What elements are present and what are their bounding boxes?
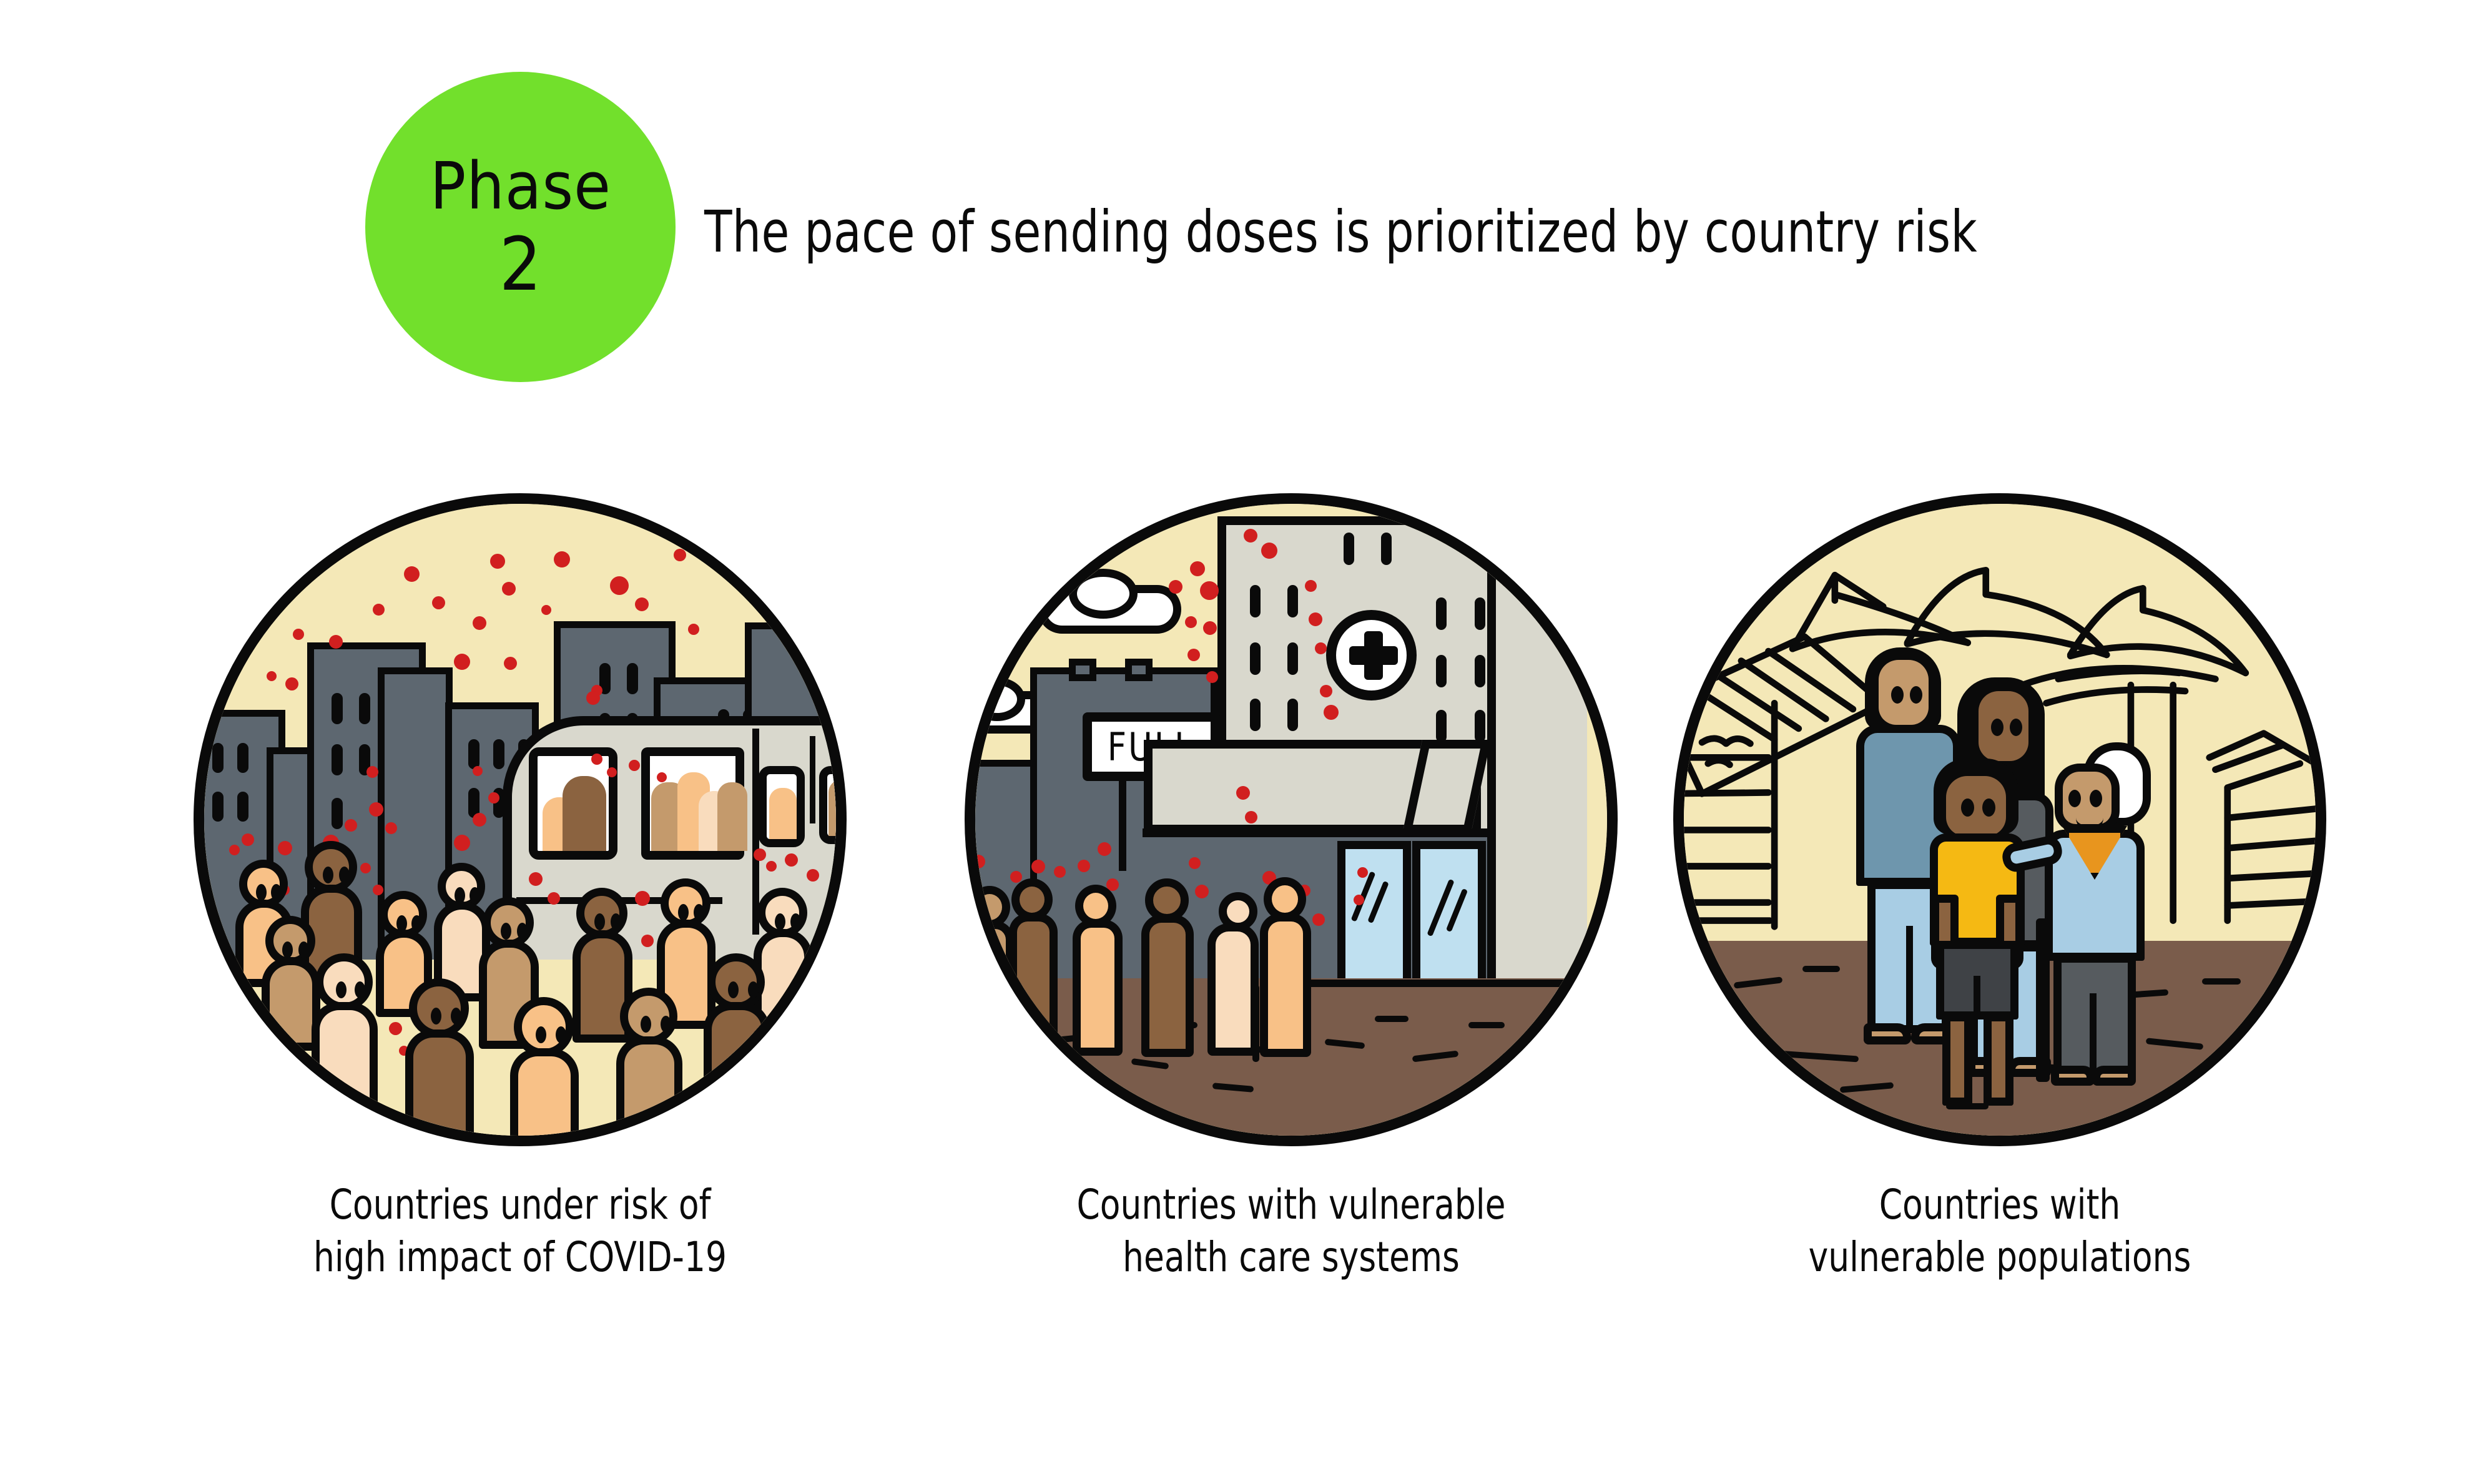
panel-health-systems: FULL <box>965 493 1618 1284</box>
medical-cross-icon <box>1326 610 1417 700</box>
illustration-hospital: FULL <box>965 493 1618 1146</box>
hospital-glass <box>1337 841 1411 997</box>
hospital-glass <box>1412 841 1486 997</box>
phase-number: 2 <box>499 227 542 301</box>
panel-high-impact: Countries under risk of high impact of C… <box>194 493 847 1284</box>
phase-label: Phase <box>430 154 611 219</box>
train-window <box>819 766 847 844</box>
caption-line: Countries under risk of <box>226 1179 814 1231</box>
train-window <box>759 766 805 847</box>
panel-caption: Countries under risk of high impact of C… <box>226 1179 814 1284</box>
caption-line: high impact of COVID-19 <box>226 1231 814 1284</box>
panel-caption: Countries with vulnerable populations <box>1706 1179 2293 1284</box>
caption-line: vulnerable populations <box>1706 1231 2293 1284</box>
phase-badge: Phase 2 <box>365 72 676 382</box>
illustration-crowded-city <box>194 493 847 1146</box>
panel-vulnerable-populations: Countries with vulnerable populations <box>1673 493 2326 1284</box>
caption-line: health care systems <box>997 1231 1585 1284</box>
caption-line: Countries with vulnerable <box>997 1179 1585 1231</box>
train-window <box>641 747 744 860</box>
train-window <box>529 747 617 860</box>
caption-line: Countries with <box>1706 1179 2293 1231</box>
cane-icon <box>1252 985 1259 1062</box>
illustration-refugee-camp <box>1673 493 2326 1146</box>
headline-text: The pace of sending doses is prioritized… <box>704 199 2078 265</box>
panel-caption: Countries with vulnerable health care sy… <box>997 1179 1585 1284</box>
cane-icon <box>2036 918 2050 1082</box>
